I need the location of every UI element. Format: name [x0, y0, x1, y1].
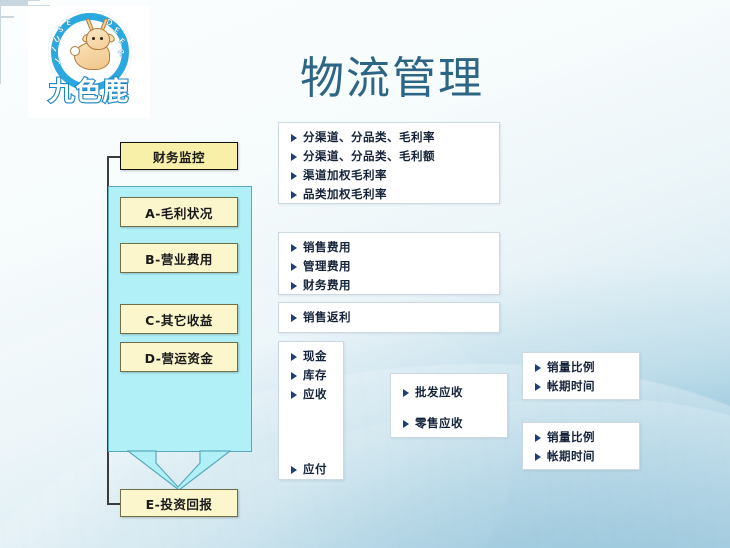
list-item: 现金 — [291, 349, 333, 364]
flow-box-e[interactable]: E-投资回报 — [120, 489, 238, 517]
list-spacer — [291, 406, 333, 430]
list-item-label: 库存 — [303, 368, 327, 383]
deer-mascot-icon — [72, 20, 114, 72]
flow-box-c[interactable]: C-其它收益 — [120, 304, 238, 334]
bullet-icon — [291, 391, 297, 399]
bullet-icon — [291, 244, 297, 252]
list-spacer — [291, 434, 333, 458]
list-item: 品类加权毛利率 — [291, 187, 489, 202]
list-item-label: 分渠道、分品类、毛利额 — [303, 149, 435, 164]
list-item: 零售应收 — [403, 416, 497, 431]
list-item: 销售返利 — [291, 310, 489, 325]
list-item: 帐期时间 — [535, 379, 629, 394]
list-item: 销售费用 — [291, 240, 489, 255]
bullet-icon — [291, 153, 297, 161]
panel-other-income-list: 销售返利 — [291, 310, 489, 325]
panel-gross-profit[interactable]: 分渠道、分品类、毛利率 分渠道、分品类、毛利额 渠道加权毛利率 品类加权毛利率 — [278, 122, 500, 204]
list-item-label: 批发应收 — [415, 385, 463, 400]
panel-receivable-split-list: 批发应收 零售应收 — [403, 385, 497, 431]
bullet-icon — [535, 364, 541, 372]
bullet-icon — [403, 389, 409, 397]
panel-operating-expense-list: 销售费用 管理费用 财务费用 — [291, 240, 489, 293]
bullet-icon — [291, 372, 297, 380]
list-item-label: 销售返利 — [303, 310, 351, 325]
list-item-label: 帐期时间 — [547, 449, 595, 464]
panel-retail-detail[interactable]: 销量比例 帐期时间 — [522, 422, 640, 470]
bullet-icon — [291, 172, 297, 180]
list-item-label: 销量比例 — [547, 360, 595, 375]
list-item-label: 帐期时间 — [547, 379, 595, 394]
list-item-label: 财务费用 — [303, 278, 351, 293]
list-item: 分渠道、分品类、毛利率 — [291, 130, 489, 145]
flow-box-d[interactable]: D-营运资金 — [120, 342, 238, 372]
panel-receivable-split[interactable]: 批发应收 零售应收 — [390, 373, 508, 438]
flow-box-header[interactable]: 财务监控 — [120, 142, 238, 170]
flow-box-b[interactable]: B-营业费用 — [120, 243, 238, 273]
panel-wholesale-detail-list: 销量比例 帐期时间 — [535, 360, 629, 394]
panel-working-capital[interactable]: 现金 库存 应收 应付 — [278, 341, 344, 480]
bullet-icon — [535, 453, 541, 461]
list-item: 销量比例 — [535, 360, 629, 375]
list-item: 财务费用 — [291, 278, 489, 293]
list-item-label: 分渠道、分品类、毛利率 — [303, 130, 435, 145]
down-arrow-shape — [127, 450, 231, 490]
list-item: 帐期时间 — [535, 449, 629, 464]
company-logo: J I U S E D E E R 九色鹿 — [28, 6, 150, 118]
list-item-label: 现金 — [303, 349, 327, 364]
logo-wordmark: 九色鹿 — [32, 72, 146, 112]
bullet-icon — [403, 420, 409, 428]
bullet-icon — [291, 466, 297, 474]
flow-box-a[interactable]: A-毛利状况 — [120, 197, 238, 227]
panel-operating-expense[interactable]: 销售费用 管理费用 财务费用 — [278, 232, 500, 295]
panel-working-capital-list: 现金 库存 应收 应付 — [291, 349, 333, 477]
list-item-label: 销量比例 — [547, 430, 595, 445]
list-item: 分渠道、分品类、毛利额 — [291, 149, 489, 164]
list-item-label: 应收 — [303, 387, 327, 402]
bullet-icon — [291, 353, 297, 361]
list-item-label: 品类加权毛利率 — [303, 187, 387, 202]
list-item: 管理费用 — [291, 259, 489, 274]
panel-gross-profit-list: 分渠道、分品类、毛利率 分渠道、分品类、毛利额 渠道加权毛利率 品类加权毛利率 — [291, 130, 489, 202]
list-item-label: 渠道加权毛利率 — [303, 168, 387, 183]
list-item-label: 销售费用 — [303, 240, 351, 255]
list-item: 应付 — [291, 462, 333, 477]
bullet-icon — [291, 282, 297, 290]
page-title: 物流管理 — [300, 50, 600, 108]
list-item-label: 管理费用 — [303, 259, 351, 274]
list-item-label: 应付 — [303, 462, 327, 477]
connector-split-to-retail — [0, 17, 14, 18]
bullet-icon — [291, 134, 297, 142]
slide-canvas: J I U S E D E E R 九色鹿 物流管理 — [0, 0, 730, 548]
bullet-icon — [535, 434, 541, 442]
spine-branch-header — [107, 156, 120, 158]
panel-other-income[interactable]: 销售返利 — [278, 302, 500, 333]
bullet-icon — [291, 314, 297, 322]
list-item: 库存 — [291, 368, 333, 383]
list-item: 批发应收 — [403, 385, 497, 400]
panel-wholesale-detail[interactable]: 销量比例 帐期时间 — [522, 352, 640, 400]
bullet-icon — [291, 191, 297, 199]
connector-split-vertical — [0, 18, 1, 84]
list-item: 应收 — [291, 387, 333, 402]
list-item-label: 零售应收 — [415, 416, 463, 431]
panel-retail-detail-list: 销量比例 帐期时间 — [535, 430, 629, 464]
connector-receivable-drop — [0, 6, 1, 16]
bullet-icon — [291, 263, 297, 271]
spine-branch-e — [107, 503, 120, 505]
list-item: 渠道加权毛利率 — [291, 168, 489, 183]
list-item: 销量比例 — [535, 430, 629, 445]
bullet-icon — [535, 383, 541, 391]
